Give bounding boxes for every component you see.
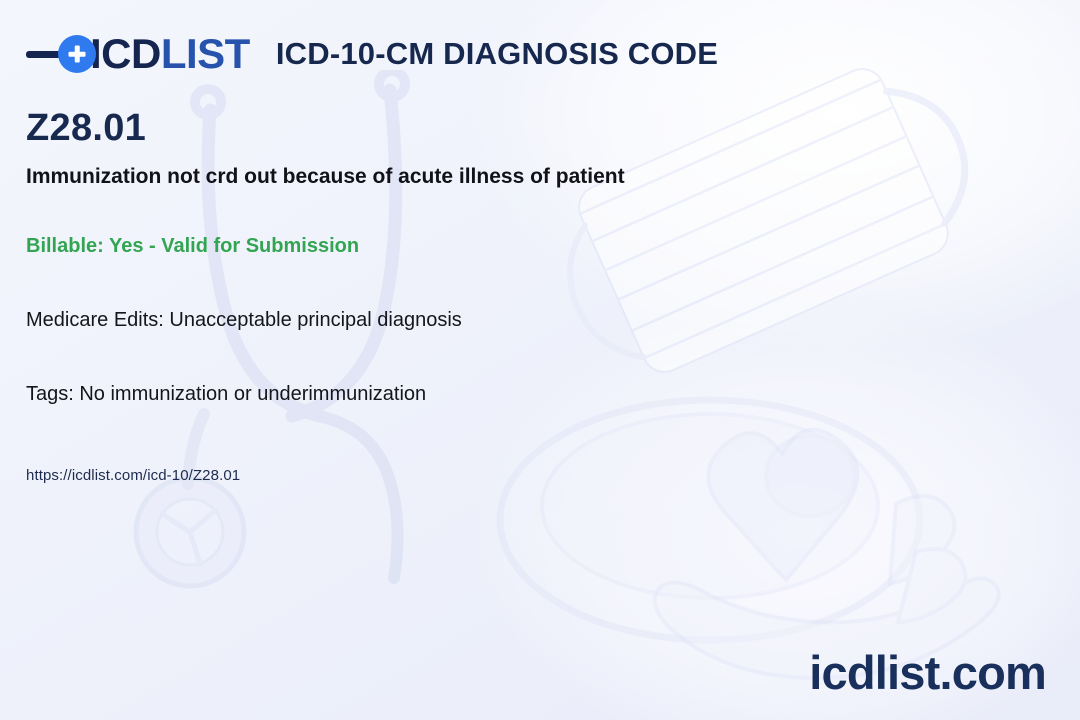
plus-icon bbox=[58, 35, 96, 73]
code-tags: Tags: No immunization or underimmunizati… bbox=[26, 382, 1054, 407]
medicare-edits: Medicare Edits: Unacceptable principal d… bbox=[26, 308, 1054, 333]
diagnosis-description: Immunization not crd out because of acut… bbox=[26, 164, 1054, 190]
billable-status: Billable: Yes - Valid for Submission bbox=[26, 234, 1054, 259]
footer-site-logo[interactable]: icdlist.com bbox=[809, 649, 1046, 696]
page-title: ICD-10-CM DIAGNOSIS CODE bbox=[276, 36, 718, 72]
icdlist-logo[interactable]: ICDLIST bbox=[26, 31, 250, 77]
logo-text-list: LIST bbox=[161, 30, 250, 77]
logo-wordmark: ICDLIST bbox=[90, 33, 250, 75]
icd-code-card: ICDLIST ICD-10-CM DIAGNOSIS CODE Z28.01 … bbox=[0, 0, 1080, 720]
diagnosis-code: Z28.01 bbox=[26, 108, 1054, 150]
page-header: ICDLIST ICD-10-CM DIAGNOSIS CODE bbox=[26, 28, 1054, 80]
source-url[interactable]: https://icdlist.com/icd-10/Z28.01 bbox=[26, 467, 1054, 485]
code-details: Z28.01 Immunization not crd out because … bbox=[26, 108, 1054, 485]
logo-text-icd: ICD bbox=[90, 30, 161, 77]
